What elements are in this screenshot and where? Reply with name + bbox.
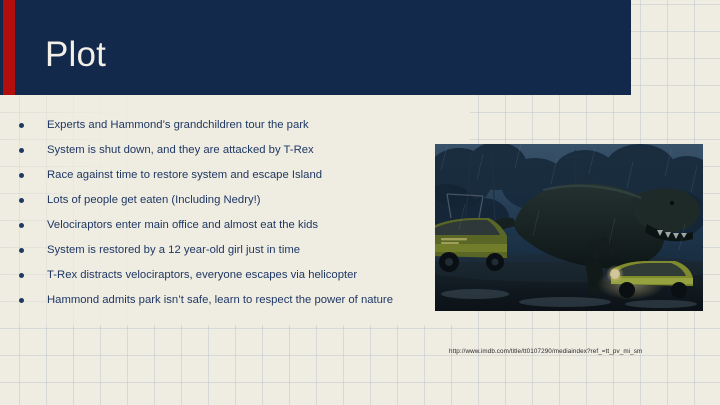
bullet-dot-icon <box>19 298 24 303</box>
bullet-list: Experts and Hammond’s grandchildren tour… <box>14 113 434 313</box>
bullet-dot-icon <box>19 273 24 278</box>
list-item: Experts and Hammond’s grandchildren tour… <box>14 113 434 138</box>
slide: Plot Experts and Hammond’s grandchildren… <box>0 0 720 405</box>
bullet-dot-icon <box>19 123 24 128</box>
list-item: System is shut down, and they are attack… <box>14 138 434 163</box>
list-item-label: Hammond admits park isn’t safe, learn to… <box>47 294 393 306</box>
list-item-label: Lots of people get eaten (Including Nedr… <box>47 194 261 206</box>
bullet-dot-icon <box>19 248 24 253</box>
image-source-caption: http://www.imdb.com/title/tt0107290/medi… <box>449 347 642 356</box>
bullet-dot-icon <box>19 173 24 178</box>
list-item: Hammond admits park isn’t safe, learn to… <box>14 288 459 313</box>
list-item-label: T-Rex distracts velociraptors, everyone … <box>47 269 357 281</box>
list-item-label: Race against time to restore system and … <box>47 169 322 181</box>
header-accent-bar <box>3 0 15 95</box>
list-item: Velociraptors enter main office and almo… <box>14 213 434 238</box>
list-item-label: System is restored by a 12 year-old girl… <box>47 244 300 256</box>
list-item: T-Rex distracts velociraptors, everyone … <box>14 263 434 288</box>
bullet-dot-icon <box>19 198 24 203</box>
list-item-label: Velociraptors enter main office and almo… <box>47 219 318 231</box>
movie-still-image <box>435 144 703 311</box>
list-item-label: System is shut down, and they are attack… <box>47 144 314 156</box>
list-item: Lots of people get eaten (Including Nedr… <box>14 188 434 213</box>
list-item-label: Experts and Hammond’s grandchildren tour… <box>47 119 309 131</box>
page-title: Plot <box>45 33 106 77</box>
bullet-dot-icon <box>19 148 24 153</box>
list-item: System is restored by a 12 year-old girl… <box>14 238 434 263</box>
list-item: Race against time to restore system and … <box>14 163 434 188</box>
bullet-dot-icon <box>19 223 24 228</box>
